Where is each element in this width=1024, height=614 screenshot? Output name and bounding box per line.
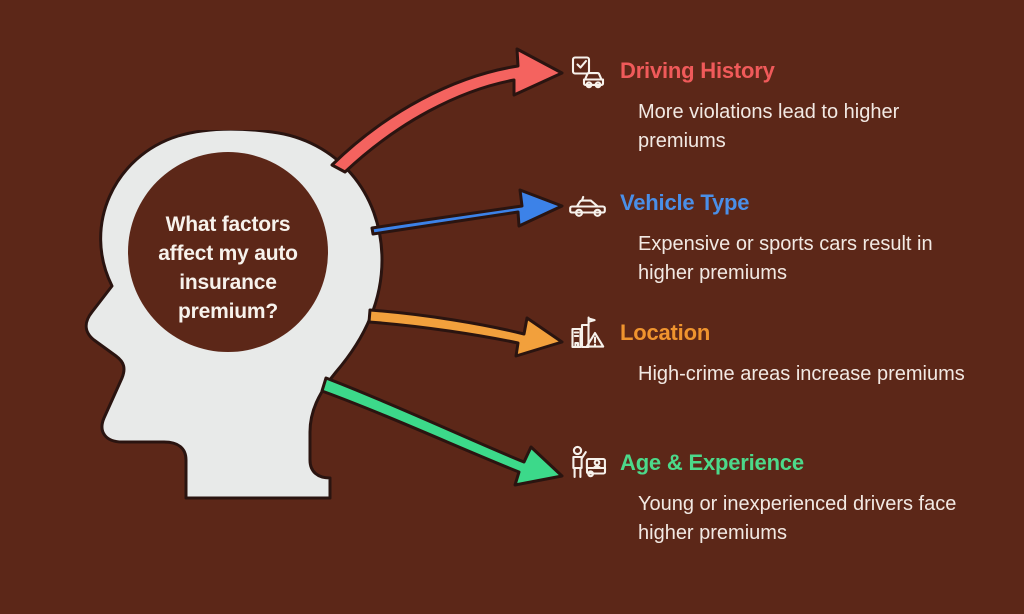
question-line-4: premium?	[140, 297, 316, 326]
factor-description: High-crime areas increase premiums	[638, 360, 968, 389]
factor-header: Age & Experience	[566, 440, 1006, 486]
factor-header: Vehicle Type	[566, 180, 1006, 226]
factor-title: Location	[620, 320, 710, 346]
person-and-driver-icon	[566, 441, 610, 485]
arrow-vehicle-type	[372, 190, 562, 234]
city-buildings-warning-icon	[566, 311, 610, 355]
factor-header: Driving History	[566, 48, 1006, 94]
central-question: What factors affect my auto insurance pr…	[140, 210, 316, 326]
arrow-location	[369, 310, 562, 356]
factor-description: Young or inexperienced drivers face high…	[638, 490, 998, 548]
convertible-sports-car-icon	[566, 181, 610, 225]
factor-item-vehicle-type: Vehicle Type Expensive or sports cars re…	[566, 180, 1006, 288]
clipboard-check-car-icon	[566, 49, 610, 93]
factor-item-driving-history: Driving History More violations lead to …	[566, 48, 1006, 156]
factor-title: Driving History	[620, 58, 775, 84]
factor-item-age-experience: Age & Experience Young or inexperienced …	[566, 440, 1006, 548]
infographic-canvas: What factors affect my auto insurance pr…	[0, 0, 1024, 614]
factor-description: More violations lead to higher premiums	[638, 98, 968, 156]
question-line-2: affect my auto	[140, 239, 316, 268]
factor-description: Expensive or sports cars result in highe…	[638, 230, 968, 288]
factor-header: Location	[566, 310, 1006, 356]
factor-title: Vehicle Type	[620, 190, 749, 216]
factor-title: Age & Experience	[620, 450, 804, 476]
factor-item-location: Location High-crime areas increase premi…	[566, 310, 1006, 389]
question-line-1: What factors	[140, 210, 316, 239]
question-line-3: insurance	[140, 268, 316, 297]
